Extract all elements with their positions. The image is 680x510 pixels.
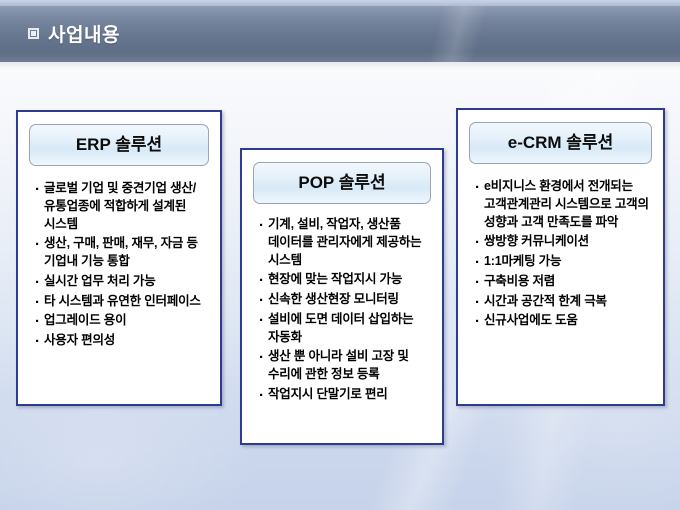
list-item: 업그레이드 용이 xyxy=(35,312,207,330)
panel-ecrm-title: e-CRM 솔루션 xyxy=(469,122,652,164)
header-underline xyxy=(0,62,680,72)
list-item: 생산 뿐 아니라 설비 고장 및 수리에 관한 정보 등록 xyxy=(259,348,429,384)
list-item: 작업지시 단말기로 편리 xyxy=(259,386,429,404)
list-item: 기계, 설비, 작업자, 생산품 데이터를 관리자에게 제공하는 시스템 xyxy=(259,216,429,269)
list-item: 구축비용 저렴 xyxy=(475,273,650,291)
list-item: 실시간 업무 처리 가능 xyxy=(35,273,207,291)
slide-canvas: 사업내용 ERP 솔루션 글로벌 기업 및 중견기업 생산/유통업종에 적합하게… xyxy=(0,0,680,510)
list-item: 현장에 맞는 작업지시 가능 xyxy=(259,271,429,289)
page-title: 사업내용 xyxy=(48,20,120,47)
list-item: 시간과 공간적 한계 극복 xyxy=(475,293,650,311)
panel-ecrm-list: e비지니스 환경에서 전개되는 고객관계관리 시스템으로 고객의 성향과 고객 … xyxy=(469,178,652,330)
panel-pop-title: POP 솔루션 xyxy=(253,162,431,204)
list-item: 신규사업에도 도움 xyxy=(475,312,650,330)
panel-erp: ERP 솔루션 글로벌 기업 및 중견기업 생산/유통업종에 적합하게 설계된 … xyxy=(16,110,222,406)
panel-erp-title: ERP 솔루션 xyxy=(29,124,209,166)
list-item: 쌍방향 커뮤니케이션 xyxy=(475,233,650,251)
list-item: 1:1마케팅 가능 xyxy=(475,253,650,271)
panel-ecrm: e-CRM 솔루션 e비지니스 환경에서 전개되는 고객관계관리 시스템으로 고… xyxy=(456,108,665,406)
page-title-group: 사업내용 xyxy=(28,20,120,47)
header-streak-decoration xyxy=(330,6,580,63)
list-item: 신속한 생산현장 모니터링 xyxy=(259,291,429,309)
panel-ecrm-inner: e-CRM 솔루션 e비지니스 환경에서 전개되는 고객관계관리 시스템으로 고… xyxy=(461,113,660,401)
panel-pop: POP 솔루션 기계, 설비, 작업자, 생산품 데이터를 관리자에게 제공하는… xyxy=(240,148,444,445)
list-item: 글로벌 기업 및 중견기업 생산/유통업종에 적합하게 설계된 시스템 xyxy=(35,180,207,233)
panel-pop-list: 기계, 설비, 작업자, 생산품 데이터를 관리자에게 제공하는 시스템 현장에… xyxy=(253,216,431,404)
panel-pop-inner: POP 솔루션 기계, 설비, 작업자, 생산품 데이터를 관리자에게 제공하는… xyxy=(245,153,439,440)
square-bullet-icon xyxy=(28,28,39,39)
list-item: 설비에 도면 데이터 삽입하는 자동화 xyxy=(259,311,429,347)
list-item: 생산, 구매, 판매, 재무, 자금 등 기업내 기능 통합 xyxy=(35,235,207,271)
list-item: 타 시스템과 유연한 인터페이스 xyxy=(35,293,207,311)
panel-erp-inner: ERP 솔루션 글로벌 기업 및 중견기업 생산/유통업종에 적합하게 설계된 … xyxy=(21,115,217,401)
list-item: e비지니스 환경에서 전개되는 고객관계관리 시스템으로 고객의 성향과 고객 … xyxy=(475,178,650,231)
panel-erp-list: 글로벌 기업 및 중견기업 생산/유통업종에 적합하게 설계된 시스템 생산, … xyxy=(29,180,209,350)
list-item: 사용자 편의성 xyxy=(35,332,207,350)
